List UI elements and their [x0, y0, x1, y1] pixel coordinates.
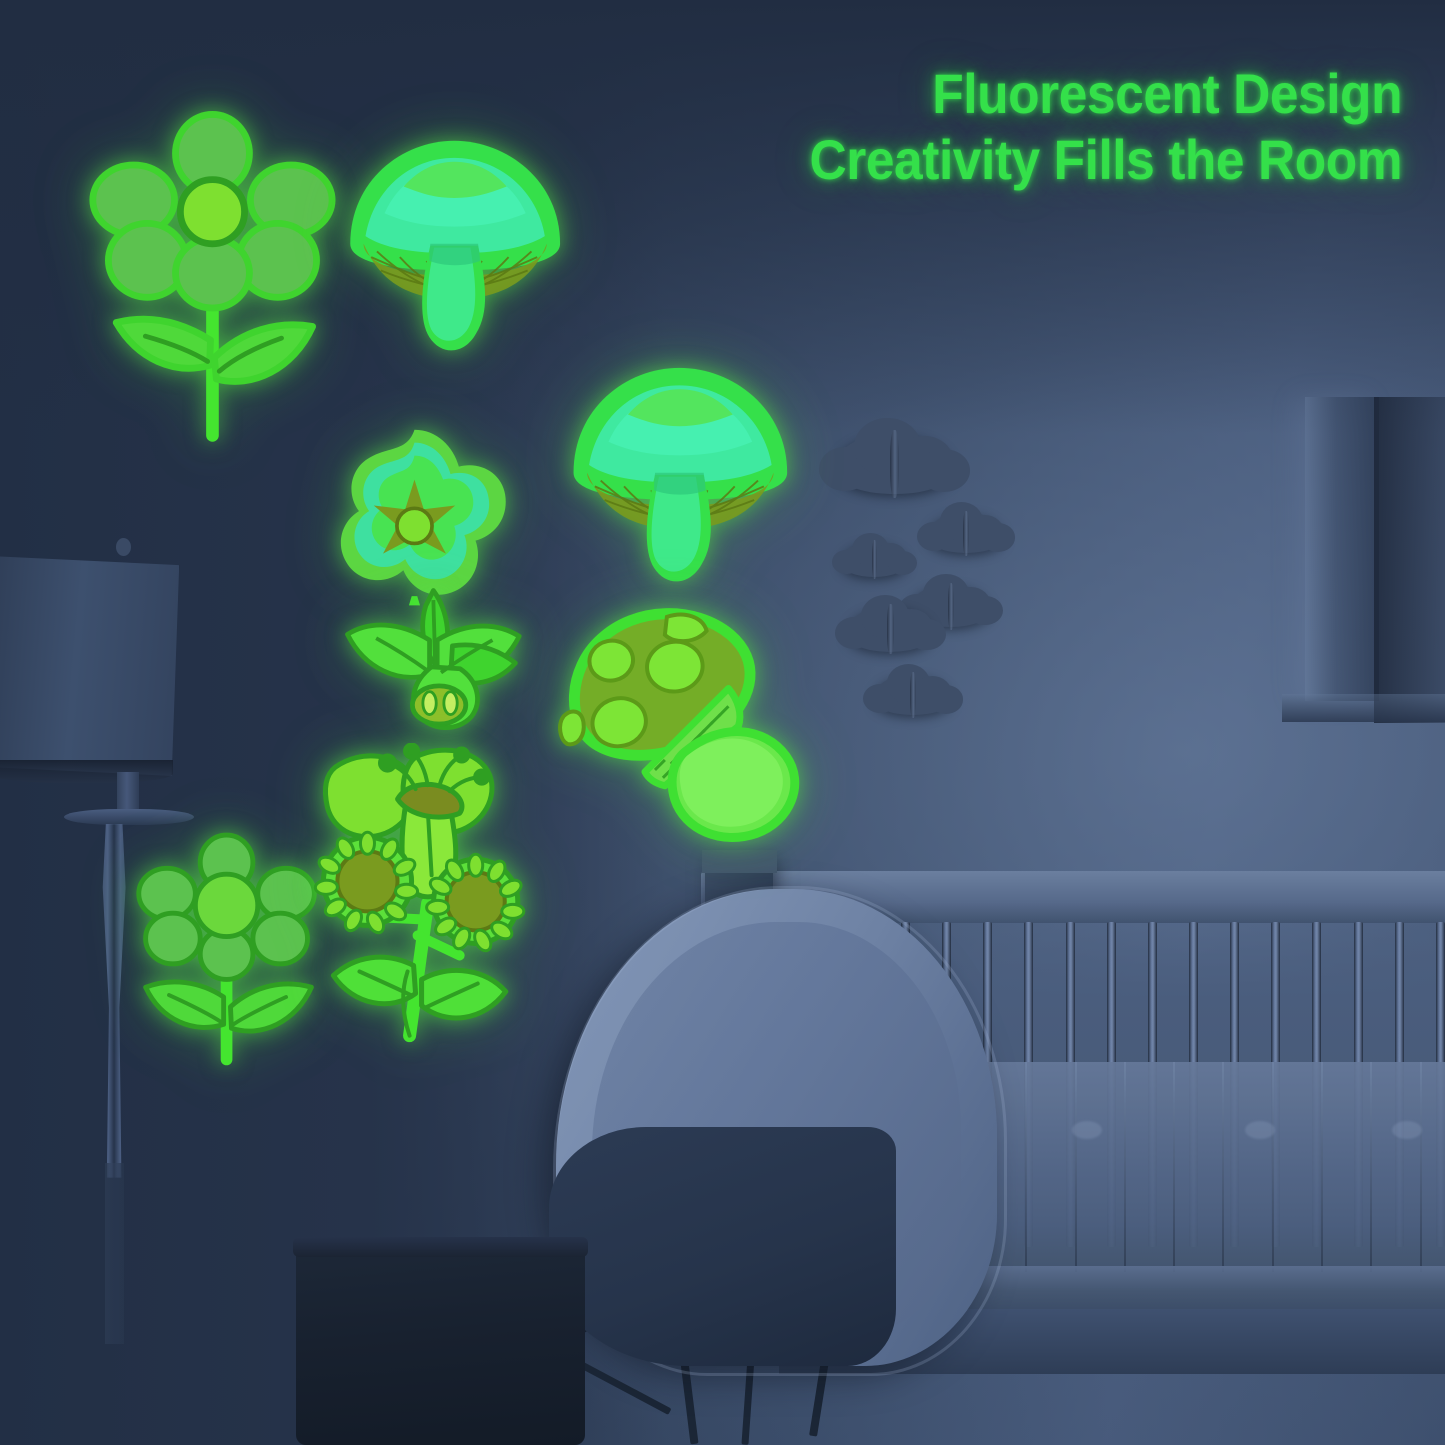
bumper-pleat: [1173, 1062, 1175, 1272]
sticker-daisy-flower-large: [87, 110, 340, 450]
cloud-center-fold: [948, 583, 954, 630]
cloud-puff: [981, 523, 1015, 551]
chair-seat-front: [549, 1127, 896, 1365]
cloud-puff: [888, 551, 917, 575]
sticker-mushroom-striped-small: [335, 124, 573, 377]
bumper-pleat: [1272, 1062, 1274, 1272]
cloud-decoration: [928, 513, 1005, 553]
cloud-decoration: [874, 675, 952, 715]
headline: Fluorescent Design Creativity Fills the …: [809, 61, 1402, 193]
bumper-pleat: [1420, 1062, 1422, 1272]
lamp-shade-rim: [0, 760, 173, 783]
wall-corner-column: [1305, 397, 1379, 700]
bumper-pleat: [1222, 1062, 1224, 1272]
wall-corner-shadow: [1374, 397, 1445, 722]
lamp-pole: [105, 1163, 124, 1344]
bumper-tie-bow: [1072, 1121, 1102, 1139]
product-lifestyle-scene: Fluorescent Design Creativity Fills the …: [0, 0, 1445, 1445]
cloud-decoration: [841, 542, 907, 577]
cloud-puff: [907, 619, 945, 650]
bumper-tie-bow: [1392, 1121, 1422, 1139]
storage-basket: [296, 1243, 585, 1445]
bumper-pleat: [1321, 1062, 1323, 1272]
bumper-pleat: [1075, 1062, 1077, 1272]
cloud-center-fold: [887, 604, 894, 654]
headline-line-1: Fluorescent Design: [809, 61, 1402, 127]
sticker-mushroom-striped-large: [558, 351, 801, 608]
cloud-center-fold: [910, 672, 916, 717]
lamp-shade: [0, 556, 179, 776]
cloud-center-fold: [963, 511, 969, 556]
bumper-pleat: [1124, 1062, 1126, 1272]
cloud-decoration: [847, 607, 934, 652]
sticker-star-flower: [322, 419, 507, 607]
wall-ledge: [1282, 694, 1445, 723]
cloud-puff: [967, 596, 1003, 625]
sticker-daisy-flower-small: [130, 831, 325, 1069]
bumper-pleat: [1025, 1062, 1027, 1272]
sticker-sunflower-cluster: [309, 743, 540, 1054]
storage-basket-rim: [293, 1237, 588, 1257]
cloud-center-fold: [872, 540, 877, 579]
crib-corner-post-cap: [702, 850, 777, 873]
lamp-collar: [64, 809, 194, 825]
sticker-leaf-sprout: [338, 585, 529, 741]
headline-line-2: Creativity Fills the Room: [809, 127, 1402, 193]
cloud-center-fold: [890, 430, 899, 498]
bumper-pleat: [1370, 1062, 1372, 1272]
sticker-toadstool-spotted: [538, 605, 810, 843]
cloud-decoration: [835, 434, 953, 495]
cloud-puff: [929, 685, 963, 713]
bumper-tie-bow: [1245, 1121, 1275, 1139]
cloud-puff: [918, 449, 970, 491]
